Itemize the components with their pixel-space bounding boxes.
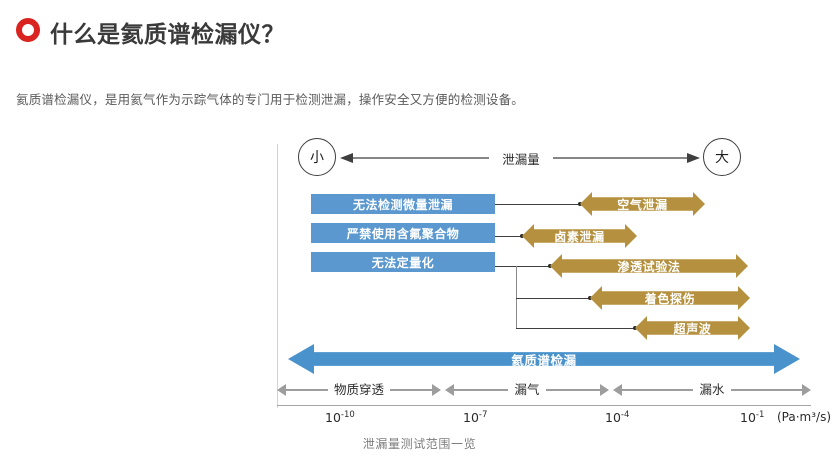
scale-tick-10e-1: 10-1 (740, 410, 764, 425)
connector-line-permeation (495, 266, 551, 267)
connector-line-dye-penetrant (516, 298, 591, 299)
range-band-label: 漏水 (693, 382, 730, 397)
limitation-box-micro-leak: 无法检测微量泄漏 (311, 194, 495, 214)
method-arrow-air-leak: 空气泄漏 (580, 192, 705, 216)
leak-amount-axis-arrow: 泄漏量 (340, 148, 700, 168)
scale-tick-10e-7: 10-7 (463, 410, 487, 425)
page-title: 什么是氦质谱检漏仪？ (50, 15, 285, 49)
method-arrow-permeation-test: 渗透试验法 (550, 254, 748, 278)
range-band-permeation: 物质穿透 (277, 381, 441, 399)
range-band-water-leak: 漏水 (613, 381, 811, 399)
diagram-axis-line (277, 405, 811, 406)
range-band-label: 漏气 (508, 382, 545, 397)
leak-rate-diagram: 小 大 泄漏量 无法检测微量泄漏 严禁使用含氟聚合物 无法定量化 空气泄漏 卤素… (260, 126, 820, 426)
connector-line-ultrasonic (516, 328, 636, 329)
connector-branch-vertical (516, 266, 517, 328)
method-arrow-ultrasonic: 超声波 (635, 316, 750, 340)
scale-tick-10e-10: 10-10 (325, 410, 355, 425)
ring-icon (16, 18, 40, 42)
scale-unit-label: (Pa·m³/s) (777, 410, 831, 424)
diagram-left-border (277, 144, 278, 408)
page-header: 什么是氦质谱检漏仪？ (0, 0, 839, 62)
range-band-label: 物质穿透 (328, 382, 390, 397)
limitation-box-fluoropolymer: 严禁使用含氟聚合物 (311, 223, 495, 243)
method-arrow-dye-penetrant: 着色探伤 (590, 286, 750, 310)
connector-line-halogen-leak (495, 236, 523, 237)
helium-leak-detection-arrow: 氦质谱检漏 (288, 344, 800, 374)
scale-cap-small: 小 (298, 138, 336, 176)
diagram-caption: 泄漏量测试范围一览 (0, 435, 839, 452)
connector-line-air-leak (495, 204, 581, 205)
leak-amount-label: 泄漏量 (489, 149, 553, 168)
scale-cap-large: 大 (703, 138, 741, 176)
range-band-gas-leak: 漏气 (445, 381, 609, 399)
scale-tick-10e-4: 10-4 (605, 410, 629, 425)
limitation-box-non-quantifiable: 无法定量化 (311, 252, 495, 272)
method-arrow-halogen-leak: 卤素泄漏 (522, 224, 637, 248)
intro-paragraph: 氦质谱检漏仪，是用氦气作为示踪气体的专门用于检测泄漏，操作安全又方便的检测设备。 (16, 89, 524, 108)
